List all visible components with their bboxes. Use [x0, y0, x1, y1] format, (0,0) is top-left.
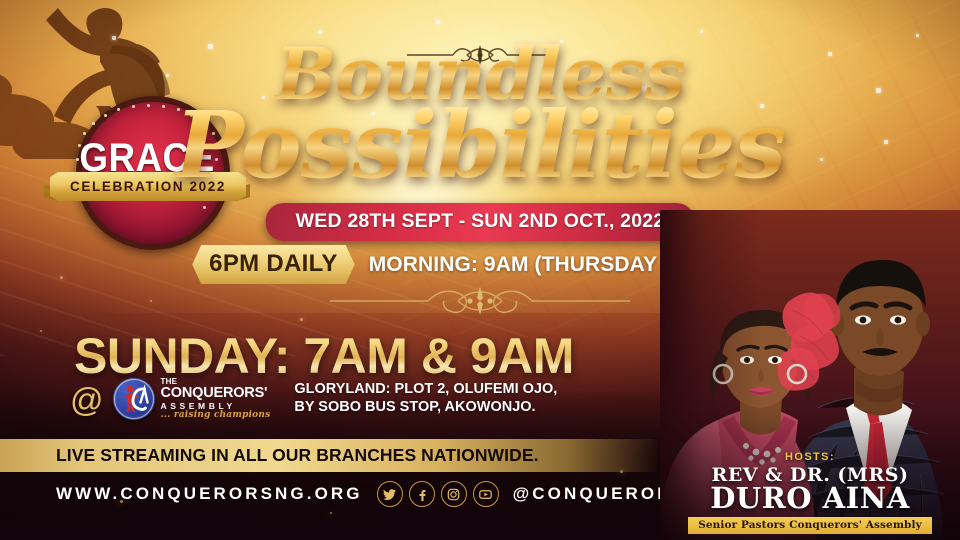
logo-conquerors-label: CONQUERORS' [161, 386, 271, 401]
address-line-1: GLORYLAND: PLOT 2, OLUFEMI OJO, [294, 381, 557, 399]
flourish-divider-icon [330, 286, 630, 321]
venue-address: GLORYLAND: PLOT 2, OLUFEMI OJO, BY SOBO … [294, 381, 557, 416]
twitter-icon[interactable] [377, 481, 403, 507]
daily-time-badge: 6PM DAILY [192, 245, 355, 284]
hosts-label-text: HOSTS: [660, 451, 960, 463]
ornament-top-icon [405, 44, 555, 71]
youtube-icon[interactable] [473, 481, 499, 507]
conquerors-logo-text: THE CONQUERORS' ASSEMBLY ... raising cha… [161, 378, 271, 420]
hosts-role-badge: Senior Pastors Conquerors' Assembly [688, 517, 932, 534]
logo-assembly-label: ASSEMBLY [161, 402, 271, 411]
hosts-photo: HOSTS: REV & DR. (MRS) DURO AINA Senior … [660, 210, 960, 540]
facebook-icon[interactable] [409, 481, 435, 507]
live-streaming-text: LIVE STREAMING IN ALL OUR BRANCHES NATIO… [0, 439, 660, 472]
instagram-icon[interactable] [441, 481, 467, 507]
at-symbol-icon: @ [70, 383, 104, 416]
sunday-service-text: SUNDAY: 7AM & 9AM [74, 327, 574, 385]
hosts-name: DURO AINA [660, 484, 960, 513]
conquerors-assembly-logo: THE CONQUERORS' ASSEMBLY ... raising cha… [113, 378, 271, 420]
live-streaming-bar: LIVE STREAMING IN ALL OUR BRANCHES NATIO… [0, 439, 660, 472]
event-flyer: GRACE CELEBRATION 2022 Boundles [0, 0, 960, 540]
event-date-pill: WED 28TH SEPT - SUN 2ND OCT., 2022 [266, 203, 695, 241]
badge-ribbon: CELEBRATION 2022 [50, 172, 246, 201]
venue-row: @ THE [70, 378, 557, 420]
conquerors-logo-mark-icon [113, 378, 155, 420]
grace-celebration-badge: GRACE CELEBRATION 2022 [62, 96, 232, 196]
badge-ribbon-text: CELEBRATION 2022 [50, 172, 246, 201]
address-line-2: BY SOBO BUS STOP, AKOWONJO. [294, 399, 557, 417]
footer-row: WWW.CONQUERORSNG.ORG [56, 481, 719, 507]
social-icons [377, 481, 499, 507]
logo-tagline: ... raising champions [161, 411, 271, 420]
hosts-caption: HOSTS: REV & DR. (MRS) DURO AINA Senior … [660, 451, 960, 534]
website-url[interactable]: WWW.CONQUERORSNG.ORG [56, 484, 363, 504]
